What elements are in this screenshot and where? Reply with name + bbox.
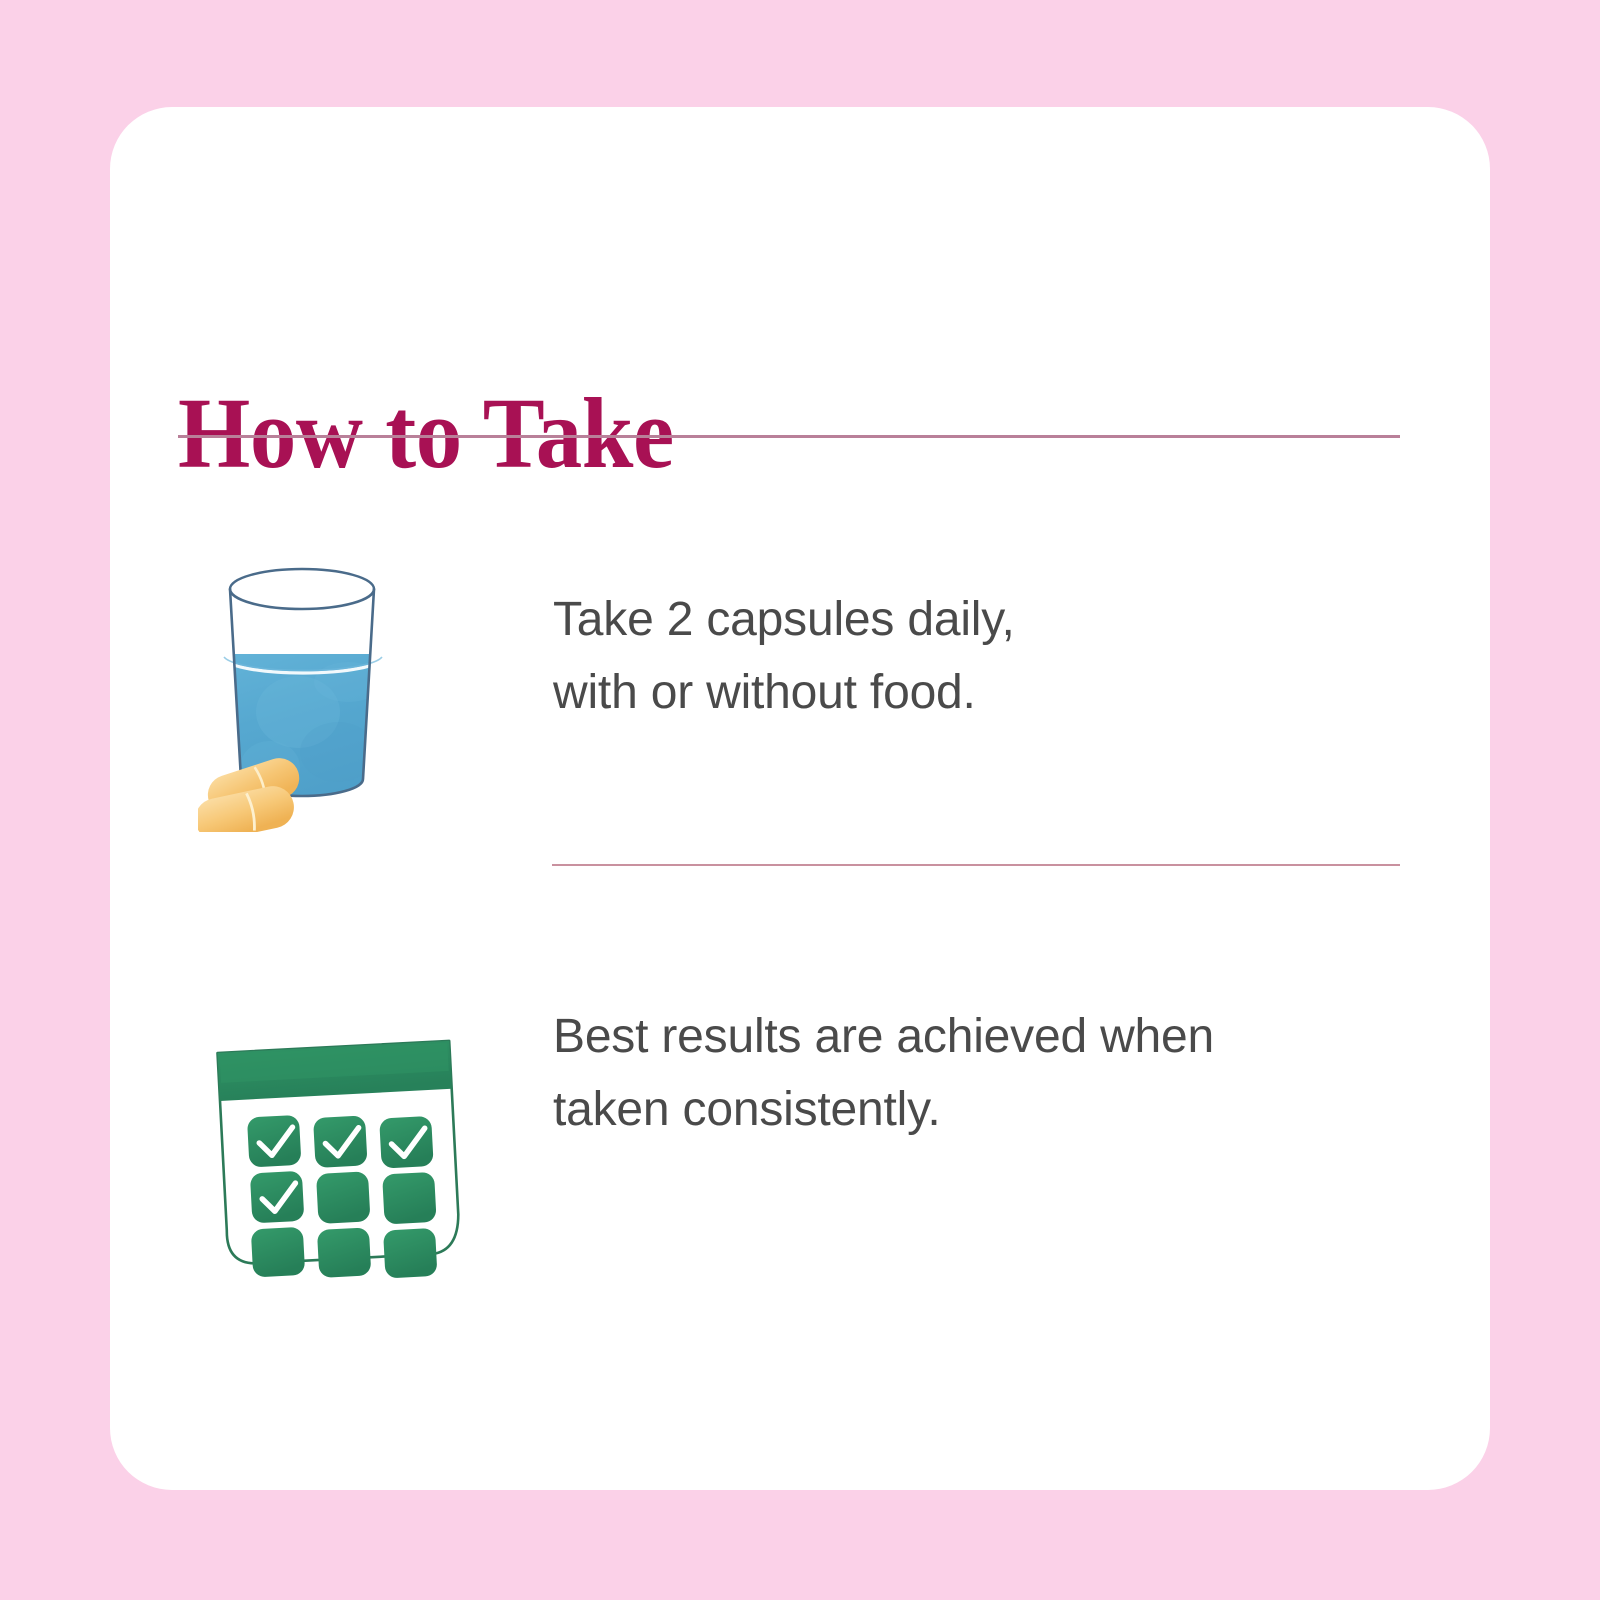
poster-page: How to Take (0, 0, 1600, 1600)
how-to-take-card: How to Take (110, 107, 1490, 1490)
instruction-text-consistency: Best results are achieved when taken con… (553, 1001, 1214, 1147)
glass-of-water-with-capsules-icon (198, 562, 468, 832)
calendar-with-checkmarks-icon (205, 1025, 480, 1290)
instruction-text-dosage: Take 2 capsules daily, with or without f… (553, 584, 1015, 730)
title-divider (178, 435, 1400, 438)
section-divider (552, 864, 1400, 866)
page-title: How to Take (178, 383, 674, 484)
